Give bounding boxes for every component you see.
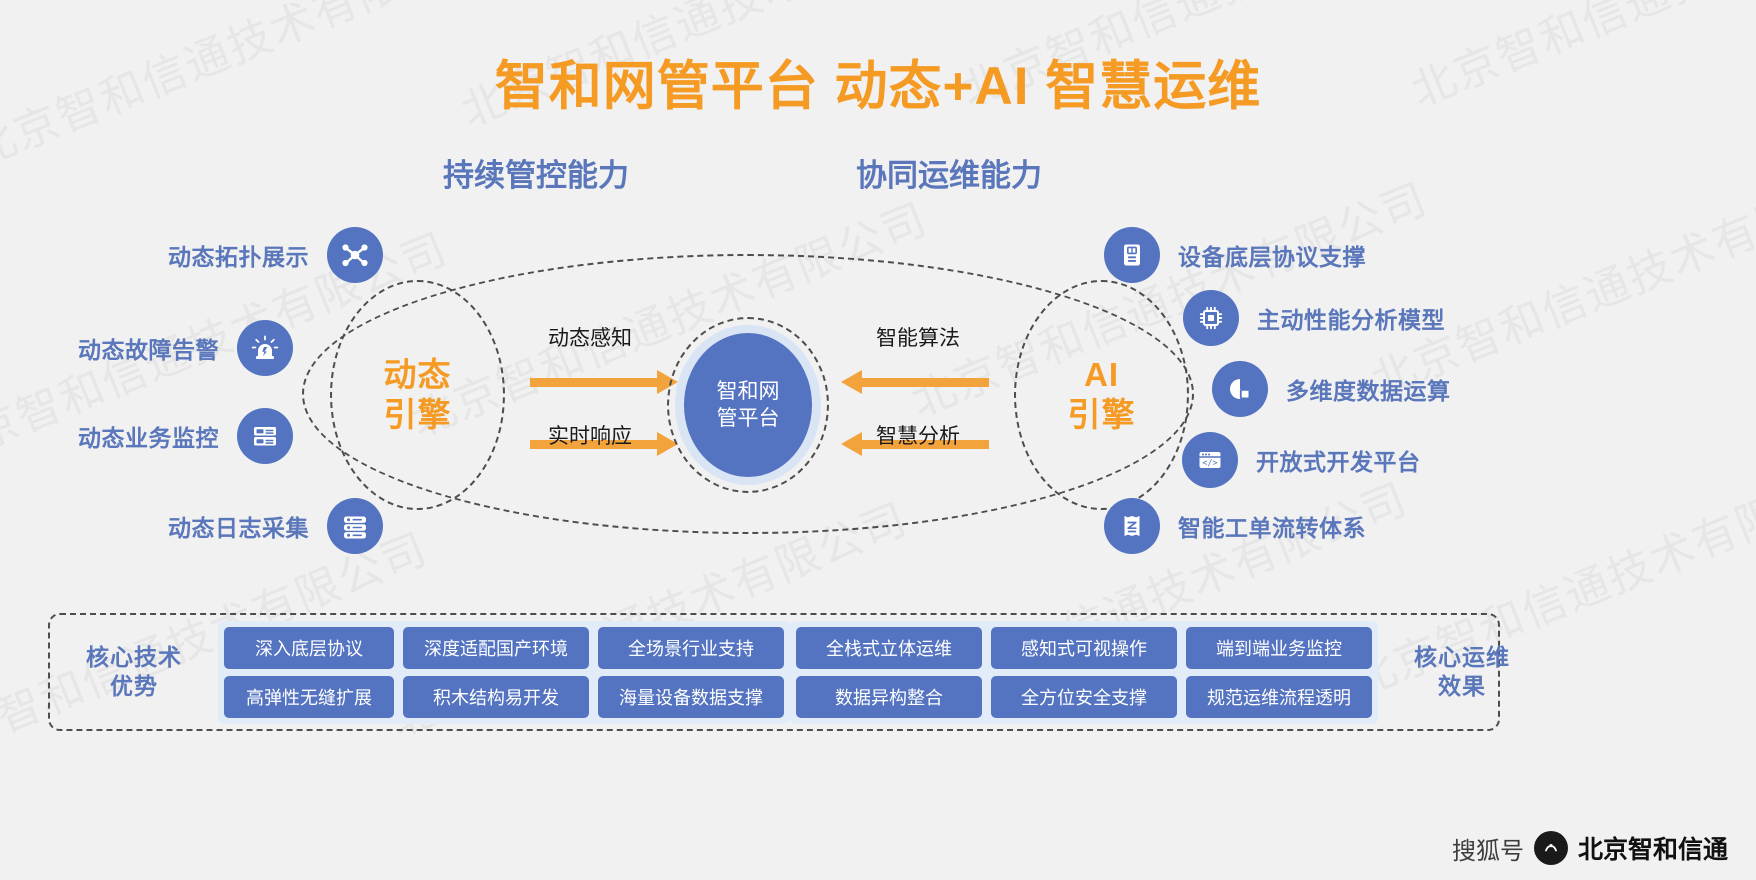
core-effect-title: 核心运维 效果 [1378, 643, 1546, 702]
arrow-label-dynamic-perception: 动态感知 [548, 322, 632, 352]
ai-engine-line2: 引擎 [1068, 395, 1136, 435]
feature-right-ticket-system[interactable]: 智能工单流转体系 [1104, 498, 1366, 554]
arrow-intelligent-algorithm [861, 378, 989, 387]
feature-left-topology-label: 动态拓扑展示 [168, 238, 309, 272]
tech-tag[interactable]: 深度适配国产环境 [403, 627, 589, 669]
svg-text:</>: </> [1202, 457, 1217, 467]
log-server-icon [327, 498, 383, 554]
feature-right-ticket-system-label: 智能工单流转体系 [1178, 509, 1366, 543]
bottom-summary-panel: 核心技术 优势 深入底层协议 深度适配国产环境 全场景行业支持 高弹性无缝扩展 … [48, 613, 1500, 731]
feature-left-monitor-label: 动态业务监控 [78, 419, 219, 453]
platform-dashed-ring [667, 317, 829, 493]
feature-right-device-protocol-label: 设备底层协议支撑 [1178, 238, 1366, 272]
tech-tag[interactable]: 深入底层协议 [224, 627, 394, 669]
brand-logo-icon [1534, 831, 1568, 865]
arrow-dynamic-perception [530, 378, 658, 387]
topology-icon [327, 227, 383, 283]
page-title: 智和网管平台 动态+AI 智慧运维 [0, 44, 1756, 120]
effect-tag[interactable]: 感知式可视操作 [991, 627, 1177, 669]
tech-tag[interactable]: 积木结构易开发 [403, 676, 589, 718]
subtitle-left: 持续管控能力 [443, 150, 629, 195]
device-protocol-icon [1104, 227, 1160, 283]
arrow-label-realtime-response: 实时响应 [548, 420, 632, 450]
alarm-icon [237, 320, 293, 376]
arrow-label-intelligent-algorithm: 智能算法 [876, 322, 960, 352]
code-window-icon: </> [1182, 432, 1238, 488]
feature-left-alarm[interactable]: 动态故障告警 [78, 320, 293, 376]
dynamic-engine-label: 动态 引擎 [384, 355, 452, 436]
feature-right-device-protocol[interactable]: 设备底层协议支撑 [1104, 227, 1366, 283]
core-tech-title: 核心技术 优势 [50, 643, 218, 702]
subtitle-right: 协同运维能力 [856, 150, 1042, 195]
ai-engine-line1: AI [1068, 355, 1136, 395]
effect-tag[interactable]: 端到端业务监控 [1186, 627, 1372, 669]
pie-chart-icon [1212, 361, 1268, 417]
effect-tag[interactable]: 数据异构整合 [796, 676, 982, 718]
diagram-canvas: 北京智和信通技术有限公司 北京智和信通技术有限公司 北京智和信通技术有限公司 北… [0, 0, 1756, 880]
feature-right-multidim-compute-label: 多维度数据运算 [1286, 372, 1451, 406]
core-tech-tag-group: 深入底层协议 深度适配国产环境 全场景行业支持 高弹性无缝扩展 积木结构易开发 … [218, 621, 790, 724]
tech-tag[interactable]: 高弹性无缝扩展 [224, 676, 394, 718]
brand-name: 北京智和信通 [1578, 830, 1728, 866]
feature-right-multidim-compute[interactable]: 多维度数据运算 [1212, 361, 1451, 417]
brand-footer: 搜狐号 北京智和信通 [1452, 830, 1728, 866]
dynamic-engine-line1: 动态 [384, 355, 452, 395]
tech-tag[interactable]: 海量设备数据支撑 [598, 676, 784, 718]
dynamic-engine-line2: 引擎 [384, 395, 452, 435]
feature-right-open-platform-label: 开放式开发平台 [1256, 443, 1421, 477]
ai-engine-label: AI 引擎 [1068, 355, 1136, 436]
feature-right-performance-model-label: 主动性能分析模型 [1257, 301, 1445, 335]
feature-left-log-label: 动态日志采集 [168, 509, 309, 543]
chip-icon [1183, 290, 1239, 346]
arrow-label-smart-analysis: 智慧分析 [876, 420, 960, 450]
brand-prefix: 搜狐号 [1452, 831, 1524, 866]
effect-tag[interactable]: 规范运维流程透明 [1186, 676, 1372, 718]
feature-right-open-platform[interactable]: </> 开放式开发平台 [1182, 432, 1421, 488]
monitor-icon [237, 408, 293, 464]
core-tech-title-line2: 优势 [50, 672, 218, 701]
dynamic-engine-node[interactable]: 动态 引擎 [330, 280, 505, 510]
ticket-icon [1104, 498, 1160, 554]
effect-tag[interactable]: 全栈式立体运维 [796, 627, 982, 669]
tech-tag[interactable]: 全场景行业支持 [598, 627, 784, 669]
core-effect-tag-group: 全栈式立体运维 感知式可视操作 端到端业务监控 数据异构整合 全方位安全支撑 规… [790, 621, 1378, 724]
core-tech-title-line1: 核心技术 [50, 643, 218, 672]
ai-engine-node[interactable]: AI 引擎 [1014, 280, 1189, 510]
feature-left-log[interactable]: 动态日志采集 [168, 498, 383, 554]
feature-left-topology[interactable]: 动态拓扑展示 [168, 227, 383, 283]
core-effect-title-line2: 效果 [1378, 672, 1546, 701]
effect-tag[interactable]: 全方位安全支撑 [991, 676, 1177, 718]
feature-right-performance-model[interactable]: 主动性能分析模型 [1183, 290, 1445, 346]
feature-left-alarm-label: 动态故障告警 [78, 331, 219, 365]
feature-left-monitor[interactable]: 动态业务监控 [78, 408, 293, 464]
core-effect-title-line1: 核心运维 [1378, 643, 1546, 672]
